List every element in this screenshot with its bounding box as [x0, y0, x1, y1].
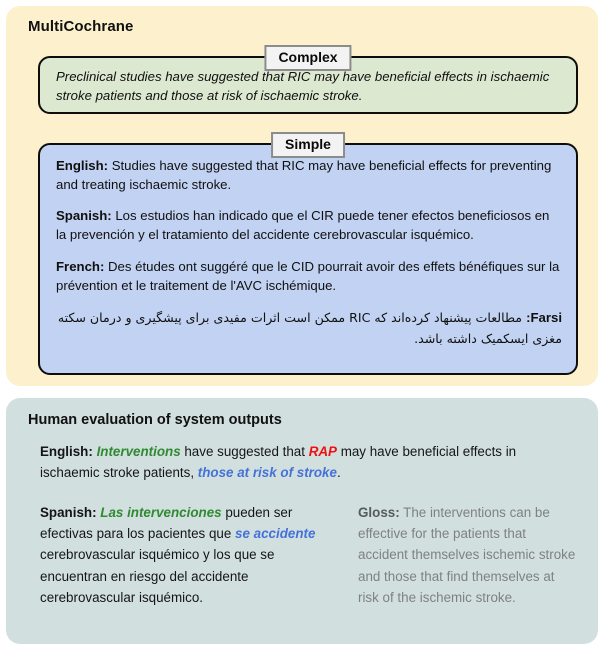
highlight-blue-those-at-risk: those at risk of stroke [198, 465, 337, 480]
list-item: Spanish: Los estudios han indicado que e… [56, 207, 562, 244]
figure-root: MultiCochrane Complex Preclinical studie… [0, 0, 604, 650]
evaluation-english-row: English: Interventions have suggested th… [40, 442, 574, 484]
evaluation-label-gloss: Gloss: [358, 505, 400, 520]
evaluation-label-spanish: Spanish: [40, 505, 97, 520]
evaluation-columns: Spanish: Las intervenciones pueden ser e… [40, 502, 578, 608]
highlight-blue-se-accidente: se accidente [235, 526, 315, 541]
evaluation-spanish-seg4: cerebrovascular isquémico y los que se e… [40, 547, 274, 604]
evaluation-gloss-column: Gloss: The interventions can be effectiv… [358, 502, 578, 608]
evaluation-title: Human evaluation of system outputs [28, 412, 282, 428]
complex-box: Complex Preclinical studies have suggest… [38, 56, 578, 114]
simple-legend: Simple [271, 132, 345, 158]
language-text-english: Studies have suggested that RIC may have… [56, 158, 551, 192]
language-text-french: Des études ont suggéré que le CID pourra… [56, 259, 559, 293]
list-item: French: Des études ont suggéré que le CI… [56, 258, 562, 295]
language-label-french: French: [56, 259, 104, 274]
list-item: Farsi: مطالعات پیشنهاد کرده‌اند که RIC م… [56, 308, 562, 348]
language-label-farsi: Farsi: [526, 310, 562, 325]
system-panel: MultiCochrane Complex Preclinical studie… [6, 6, 598, 386]
highlight-red-rap: RAP [309, 444, 337, 459]
evaluation-english-seg6: . [337, 465, 341, 480]
complex-text: Preclinical studies have suggested that … [56, 67, 562, 105]
simple-language-list: English: Studies have suggested that RIC… [56, 157, 562, 367]
human-evaluation-panel: Human evaluation of system outputs Engli… [6, 398, 598, 644]
highlight-green-las-intervenciones: Las intervenciones [100, 505, 221, 520]
evaluation-spanish-column: Spanish: Las intervenciones pueden ser e… [40, 502, 336, 608]
language-label-spanish: Spanish: [56, 208, 112, 223]
highlight-green-interventions: Interventions [97, 444, 181, 459]
page-title: MultiCochrane [28, 18, 133, 35]
evaluation-english-seg2: have suggested that [181, 444, 309, 459]
simple-box: Simple English: Studies have suggested t… [38, 143, 578, 375]
language-label-english: English: [56, 158, 108, 173]
list-item: English: Studies have suggested that RIC… [56, 157, 562, 194]
language-text-farsi: مطالعات پیشنهاد کرده‌اند که RIC ممکن است… [58, 310, 562, 345]
language-text-spanish: Los estudios han indicado que el CIR pue… [56, 208, 549, 242]
evaluation-label-english: English: [40, 444, 93, 459]
